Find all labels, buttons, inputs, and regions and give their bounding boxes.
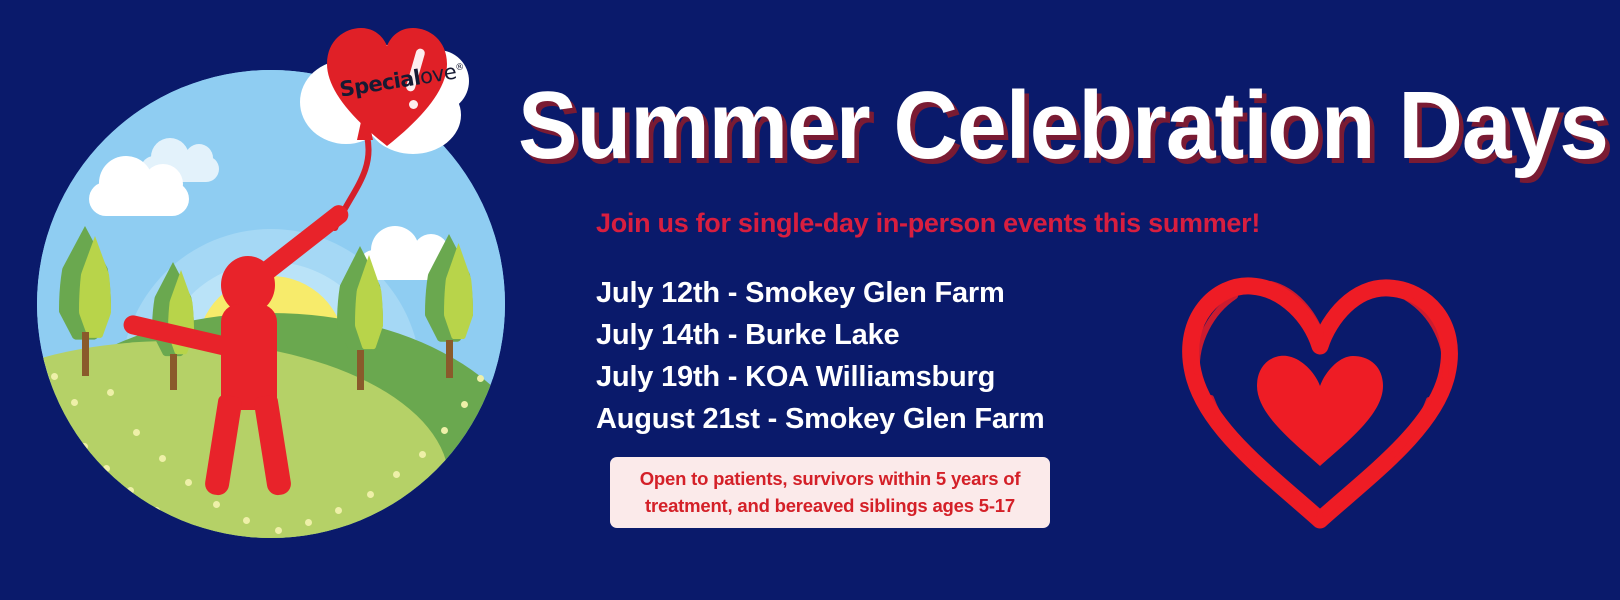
figure-leg-right bbox=[253, 394, 292, 497]
list-item: August 21st - Smokey Glen Farm bbox=[596, 398, 1044, 440]
brush-stroke-heart-icon bbox=[1175, 268, 1465, 533]
event-date-list: July 12th - Smokey Glen Farm July 14th -… bbox=[596, 272, 1044, 440]
summer-celebration-banner: Specialove® Summer Celebration Days Join… bbox=[0, 0, 1620, 600]
list-item: July 14th - Burke Lake bbox=[596, 314, 1044, 356]
balloon-highlight-dot bbox=[409, 100, 418, 109]
inner-heart bbox=[1257, 356, 1383, 466]
registered-mark: ® bbox=[455, 62, 465, 73]
eligibility-callout: Open to patients, survivors within 5 yea… bbox=[610, 457, 1050, 528]
heart-icon: Specialove® bbox=[325, 24, 449, 148]
list-item: July 12th - Smokey Glen Farm bbox=[596, 272, 1044, 314]
figure-leg-left bbox=[204, 394, 243, 497]
figure-body bbox=[221, 304, 277, 410]
eligibility-line-1: Open to patients, survivors within 5 yea… bbox=[620, 465, 1040, 492]
child-figure-icon bbox=[165, 256, 345, 506]
heart-balloon-logo: Specialove® bbox=[303, 10, 471, 170]
eligibility-line-2: treatment, and bereaved siblings ages 5-… bbox=[620, 492, 1040, 519]
cloud-icon bbox=[89, 182, 189, 216]
page-title: Summer Celebration Days bbox=[518, 78, 1608, 174]
subtitle: Join us for single-day in-person events … bbox=[596, 208, 1260, 239]
list-item: July 19th - KOA Williamsburg bbox=[596, 356, 1044, 398]
